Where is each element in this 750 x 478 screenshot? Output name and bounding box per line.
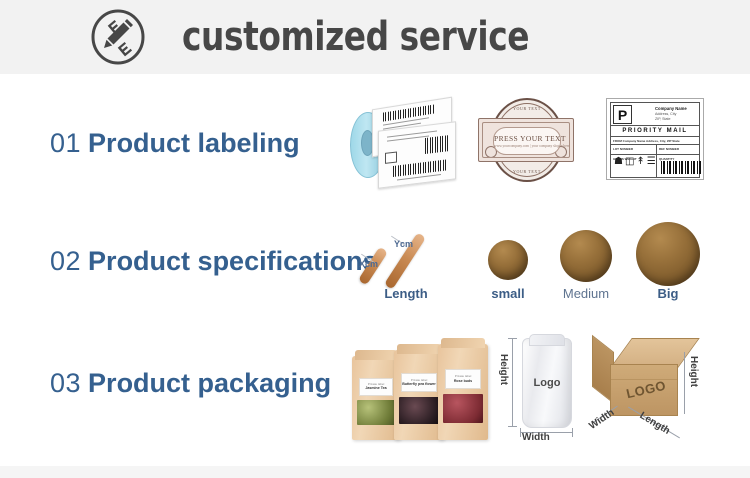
- sack-height-label: Height: [498, 354, 509, 385]
- row-number-2: 02: [50, 246, 81, 276]
- pmail-field-4-label: QUANTITY: [659, 157, 674, 161]
- sack-height-line: [512, 338, 513, 426]
- pouch-3-label-name: Rose buds: [454, 379, 472, 383]
- pmail-address: Address, City: [655, 112, 676, 116]
- carton-width-label: Width: [587, 407, 616, 432]
- pmail-field-1-label: LOT NUMBER: [613, 147, 633, 151]
- woven-sack[interactable]: Height Logo Width: [498, 332, 586, 442]
- row-title-3: Product packaging: [88, 368, 331, 398]
- ball-big[interactable]: [636, 222, 700, 286]
- label-sheet-lower: [378, 121, 456, 189]
- pmail-header: P Company Name Address, City ZIP, State: [610, 102, 700, 126]
- ball-medium[interactable]: [560, 230, 612, 282]
- label-roll[interactable]: F: [348, 96, 452, 190]
- stick-small-label: Xcm: [359, 259, 378, 269]
- length-caption: Length: [354, 286, 458, 301]
- kraft-pouches[interactable]: Private label Jasmine Tea Private label …: [352, 336, 488, 440]
- pouch-1: Private label Jasmine Tea: [352, 356, 400, 440]
- pouch-2: Private label Butterfly pea flower: [394, 350, 444, 440]
- pouch-1-label: Private label Jasmine Tea: [359, 378, 394, 396]
- section-product-packaging: 03Product packaging Private label Jasmin…: [0, 330, 750, 446]
- length-sticks[interactable]: Xcm Ycm Length: [354, 214, 458, 304]
- section-product-labeling: 01Product labeling F: [0, 92, 750, 196]
- ball-medium-caption: Medium: [552, 286, 620, 301]
- pouch-1-label-name: Jasmine Tea: [365, 386, 386, 390]
- vintage-bottom-text: YOUR TEXT: [492, 169, 562, 174]
- pmail-zip: ZIP, State: [655, 117, 671, 121]
- row-label-1: 01Product labeling: [50, 128, 300, 159]
- page-header: customized service: [0, 0, 750, 74]
- pmail-logo-letter: P: [613, 105, 632, 124]
- priority-mail-label[interactable]: P Company Name Address, City ZIP, State …: [606, 98, 704, 180]
- ball-small-caption: small: [474, 286, 542, 301]
- pencil-customize-icon: [88, 7, 148, 67]
- row-title-1: Product labeling: [88, 128, 300, 158]
- pouch-2-label: Private label Butterfly pea flower: [401, 373, 437, 392]
- sack-width-label: Width: [522, 432, 550, 443]
- row-label-2: 02Product specifications: [50, 246, 378, 277]
- vintage-top-text: YOUR TEXT: [492, 106, 562, 111]
- pmail-company: Company Name: [655, 106, 687, 111]
- row-number-1: 01: [50, 128, 81, 158]
- vintage-sub-text: www.yourcompany.com | your company sloga…: [494, 144, 560, 148]
- section-product-specifications: 02Product specifications Xcm Ycm Length …: [0, 210, 750, 314]
- carton-height-label: Height: [688, 356, 699, 387]
- barcode-icon: [425, 135, 449, 154]
- row-title-2: Product specifications: [88, 246, 378, 276]
- pouch-2-window: [399, 397, 439, 424]
- vintage-inner-panel: PRESS YOUR TEXT www.yourcompany.com | yo…: [493, 127, 561, 155]
- carton-height-line: [684, 352, 685, 414]
- row-number-3: 03: [50, 368, 81, 398]
- barcode-icon: [383, 104, 435, 121]
- pouch-3: Private label Rose buds: [438, 344, 488, 440]
- pmail-field-4: QUANTITY: [656, 154, 700, 178]
- pmail-from-text: FROM Company Name Address, City, ZIP Sta…: [613, 139, 680, 143]
- size-samples: small Medium Big: [474, 210, 704, 306]
- pouch-2-label-name: Butterfly pea flower: [402, 382, 436, 386]
- ball-small[interactable]: [488, 240, 528, 280]
- handling-icons: ☗◫↟☰: [614, 156, 658, 167]
- pouch-3-window: [443, 394, 483, 423]
- sack-body: Logo: [522, 338, 572, 428]
- vintage-main-text: PRESS YOUR TEXT: [494, 134, 560, 143]
- pouch-1-window: [357, 400, 395, 425]
- carton-box[interactable]: LOGO Height Length Width: [588, 330, 716, 442]
- page-title: customized service: [182, 17, 529, 57]
- barcode-icon: [661, 161, 701, 174]
- ball-big-caption: Big: [634, 286, 702, 301]
- sack-logo-text: Logo: [523, 377, 571, 389]
- stick-large-label: Ycm: [394, 239, 413, 249]
- vintage-plate: PRESS YOUR TEXT www.yourcompany.com | yo…: [478, 118, 574, 162]
- pouch-3-label: Private label Rose buds: [445, 369, 481, 389]
- bottom-band: [0, 466, 750, 478]
- vintage-ornate-label[interactable]: YOUR TEXT YOUR TEXT PRESS YOUR TEXT www.…: [476, 98, 574, 180]
- pmail-field-2-label: REF NUMBER: [659, 147, 679, 151]
- row-label-3: 03Product packaging: [50, 368, 331, 399]
